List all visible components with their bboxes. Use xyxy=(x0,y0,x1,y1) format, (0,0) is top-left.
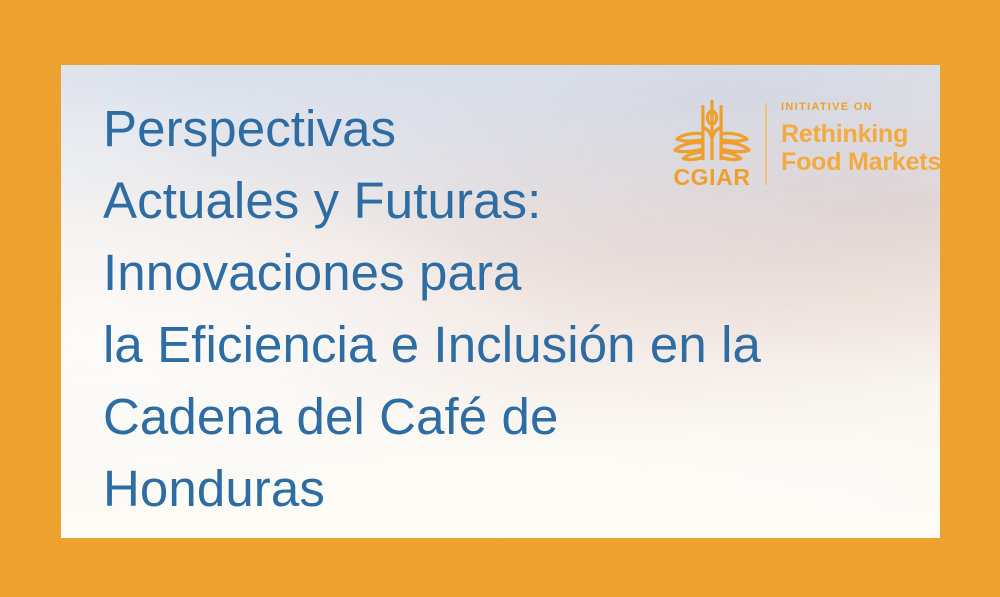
slide: Perspectivas Actuales y Futuras: Innovac… xyxy=(0,0,1000,597)
title-line-4: la Eficiencia e Inclusión en la xyxy=(103,309,903,381)
cgiar-wordmark: CGIAR xyxy=(673,166,750,189)
content-panel: Perspectivas Actuales y Futuras: Innovac… xyxy=(61,65,940,538)
cgiar-wheat-wings-icon xyxy=(673,96,751,164)
title-line-5: Cadena del Café de xyxy=(103,381,903,453)
cgiar-logo-lockup: CGIAR INITIATIVE ON Rethinking Food Mark… xyxy=(669,96,940,189)
title-line-3: Innovaciones para xyxy=(103,237,903,309)
initiative-name-line-1: Rethinking xyxy=(781,120,940,148)
title-line-6: Honduras xyxy=(103,453,903,525)
initiative-text: INITIATIVE ON Rethinking Food Markets xyxy=(781,96,940,176)
cgiar-logo: CGIAR xyxy=(669,96,755,189)
initiative-name-line-2: Food Markets xyxy=(781,148,940,176)
initiative-kicker: INITIATIVE ON xyxy=(781,102,940,113)
logo-divider xyxy=(765,103,767,185)
